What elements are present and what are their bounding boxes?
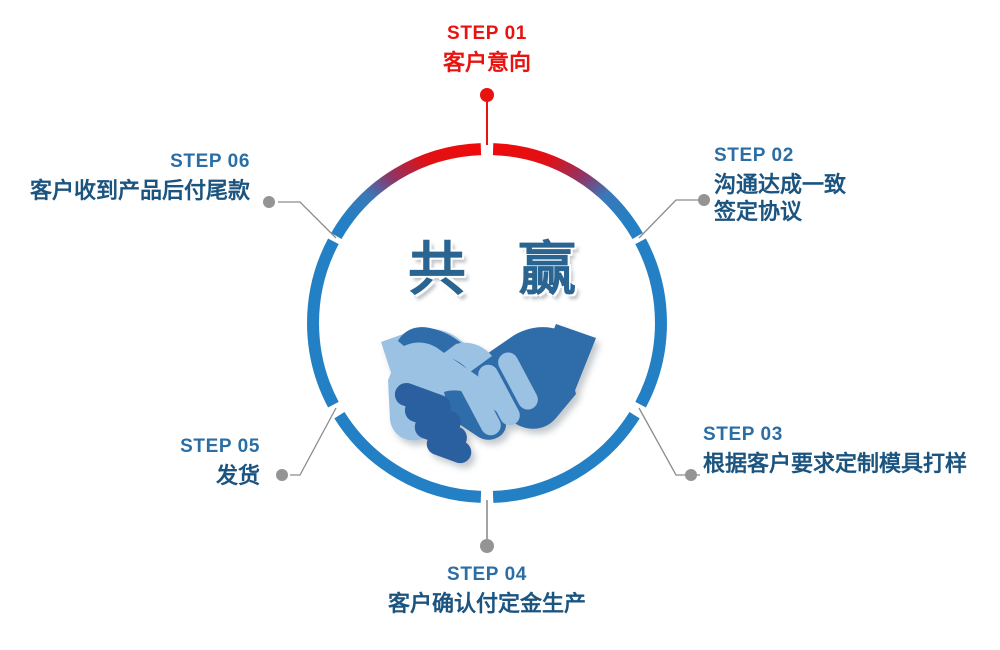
step-dot-05 <box>276 469 288 481</box>
connector-step-01 <box>480 88 494 145</box>
connector-step-03 <box>639 408 700 481</box>
step-dot-02 <box>698 194 710 206</box>
step-number-01: STEP 01 <box>387 24 587 44</box>
connector-step-05 <box>276 408 336 481</box>
step-label-02[interactable]: STEP 02 沟通达成一致 签定协议 <box>714 146 994 226</box>
handshake-icon <box>381 324 596 466</box>
step-text-04: 客户确认付定金生产 <box>337 590 637 618</box>
infographic-canvas: 共 赢 STEP 01 客户意向 STEP 02 沟通达成一致 签定协议 STE… <box>0 0 1000 650</box>
connector-step-04 <box>480 500 494 553</box>
step-label-01[interactable]: STEP 01 客户意向 <box>387 24 587 76</box>
step-dot-04 <box>480 539 494 553</box>
step-dot-06 <box>263 196 275 208</box>
step-text-05: 发货 <box>14 462 260 490</box>
step-text-02: 沟通达成一致 <box>714 171 994 199</box>
step-text-03: 根据客户要求定制模具打样 <box>703 450 1000 478</box>
arc-segment-bottom-right <box>493 415 634 497</box>
step-label-03[interactable]: STEP 03 根据客户要求定制模具打样 <box>703 425 1000 477</box>
step-label-04[interactable]: STEP 04 客户确认付定金生产 <box>337 565 637 617</box>
step-text-02-line2: 签定协议 <box>714 198 994 226</box>
step-label-06[interactable]: STEP 06 客户收到产品后付尾款 <box>0 152 250 204</box>
diagram-vector-layer <box>0 0 1000 650</box>
step-number-02: STEP 02 <box>714 146 994 166</box>
step-number-04: STEP 04 <box>337 565 637 585</box>
step-number-03: STEP 03 <box>703 425 1000 445</box>
center-wordmark: 共 赢 <box>0 222 1000 306</box>
step-label-05[interactable]: STEP 05 发货 <box>14 437 260 489</box>
step-number-06: STEP 06 <box>0 152 250 172</box>
step-text-01: 客户意向 <box>387 49 587 77</box>
step-number-05: STEP 05 <box>14 437 260 457</box>
step-text-06: 客户收到产品后付尾款 <box>0 177 250 205</box>
step-dot-01 <box>480 88 494 102</box>
step-dot-03 <box>685 469 697 481</box>
